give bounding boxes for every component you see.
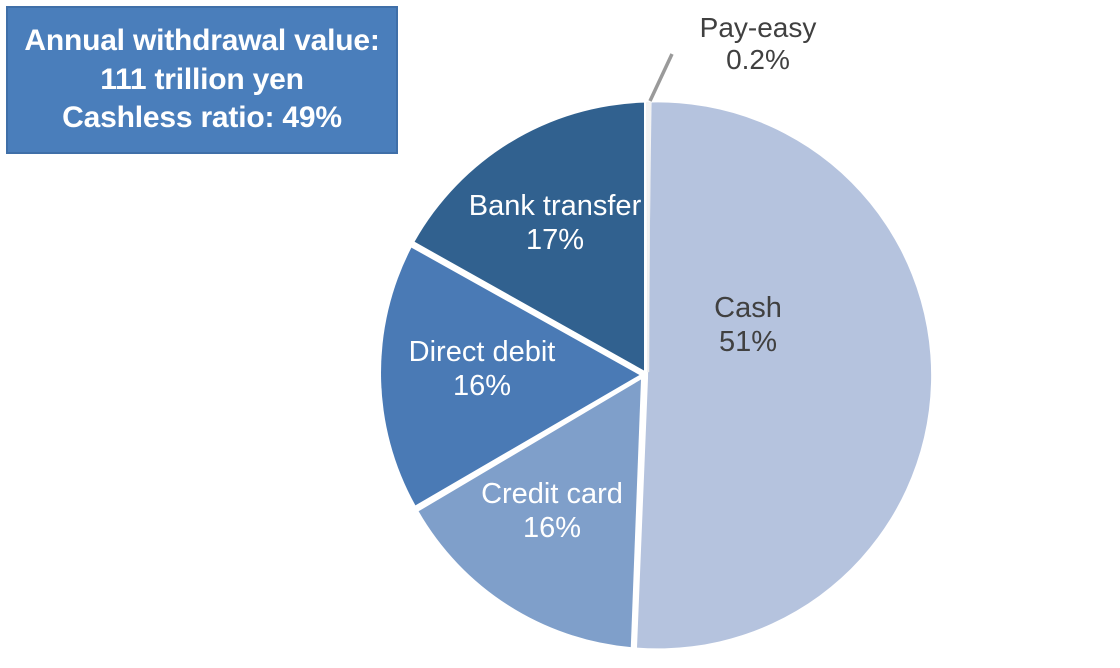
pie-chart-page: Annual withdrawal value: 111 trillion ye…	[0, 0, 1120, 668]
pie-chart	[0, 0, 1120, 668]
pie-slice-cash[interactable]	[637, 102, 931, 648]
pay-easy-leader-line	[650, 54, 672, 101]
